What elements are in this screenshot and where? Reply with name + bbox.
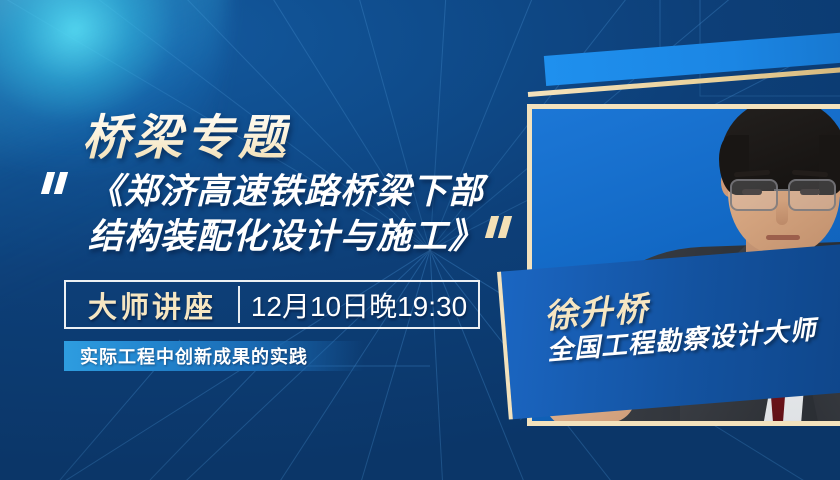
subtitle-text: 实际工程中创新成果的实践	[64, 343, 308, 369]
book-title-line-2: 结构装配化设计与施工》	[88, 215, 484, 260]
book-title-line-1: 《郑济高速铁路桥梁下部	[88, 170, 484, 215]
subtitle-bar: 实际工程中创新成果的实践	[64, 341, 364, 371]
quote-open-icon	[44, 172, 70, 194]
webinar-poster: 徐升桥 全国工程勘察设计大师 桥梁专题 《郑济高速铁路桥梁下部 结构装配化设计与…	[0, 0, 840, 480]
lecture-datetime: 12月10日晚19:30	[240, 282, 478, 327]
page-title: 桥梁专题	[82, 98, 290, 168]
lecture-tag: 大师讲座	[66, 282, 238, 327]
lecture-info-box: 大师讲座 12月10日晚19:30	[64, 280, 480, 329]
quote-close-icon	[488, 216, 514, 238]
book-title: 《郑济高速铁路桥梁下部 结构装配化设计与施工》	[88, 170, 484, 260]
